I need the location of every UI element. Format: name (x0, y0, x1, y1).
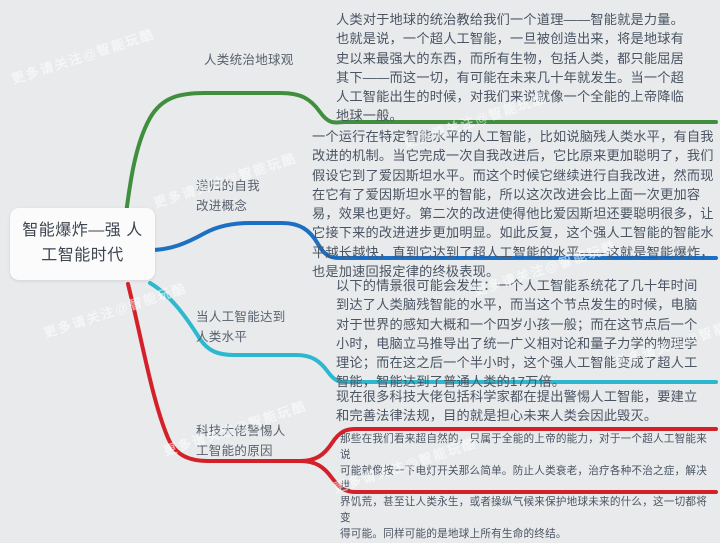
root-node-label: 智能爆炸—强 人工智能时代 (18, 219, 147, 269)
branch-label-tech-leaders-wary[interactable]: 科技大佬警惕人 工智能的原因 (196, 421, 286, 461)
content-text-tech-leaders-wary-detail: 那些在我们看来超自然的，只属于全能的上帝的能力，对于一个超人工智能来说 可能就像… (340, 432, 714, 543)
content-text-tech-leaders-wary: 现在很多科技大佬包括科学家都在提出警惕人工智能，要建立 和完善法律法规，目的就是… (336, 387, 714, 426)
root-node[interactable]: 智能爆炸—强 人工智能时代 (10, 208, 155, 280)
content-block-tech-leaders-wary: 现在很多科技大佬包括科学家都在提出警惕人工智能，要建立 和完善法律法规，目的就是… (336, 387, 714, 426)
branch-label-ai-reaches-human-level[interactable]: 当人工智能达到 人类水平 (196, 307, 286, 347)
content-block-recursive-self-improvement: 一个运行在特定智能水平的人工智能，比如说脑残人类水平，有自我 改进的机制。当它完… (312, 127, 716, 281)
content-text-ai-reaches-human-level: 以下的情景很可能会发生：一个人工智能系统花了几十年时间 到达了人类脑残智能的水平… (336, 276, 716, 392)
content-block-human-rule: 人类对于地球的统治教给我们一个道理——智能就是力量。 也就是说，一个超人工智能，… (336, 10, 714, 126)
branch-label-human-rule[interactable]: 人类统治地球观 (204, 50, 294, 70)
content-text-human-rule: 人类对于地球的统治教给我们一个道理——智能就是力量。 也就是说，一个超人工智能，… (336, 10, 714, 126)
content-block-tech-leaders-wary-detail: 那些在我们看来超自然的，只属于全能的上帝的能力，对于一个超人工智能来说 可能就像… (340, 432, 714, 543)
branch-label-recursive-self-improvement[interactable]: 递归的自我 改进概念 (196, 176, 260, 216)
content-block-ai-reaches-human-level: 以下的情景很可能会发生：一个人工智能系统花了几十年时间 到达了人类脑残智能的水平… (336, 276, 716, 392)
content-text-recursive-self-improvement: 一个运行在特定智能水平的人工智能，比如说脑残人类水平，有自我 改进的机制。当它完… (312, 127, 716, 281)
